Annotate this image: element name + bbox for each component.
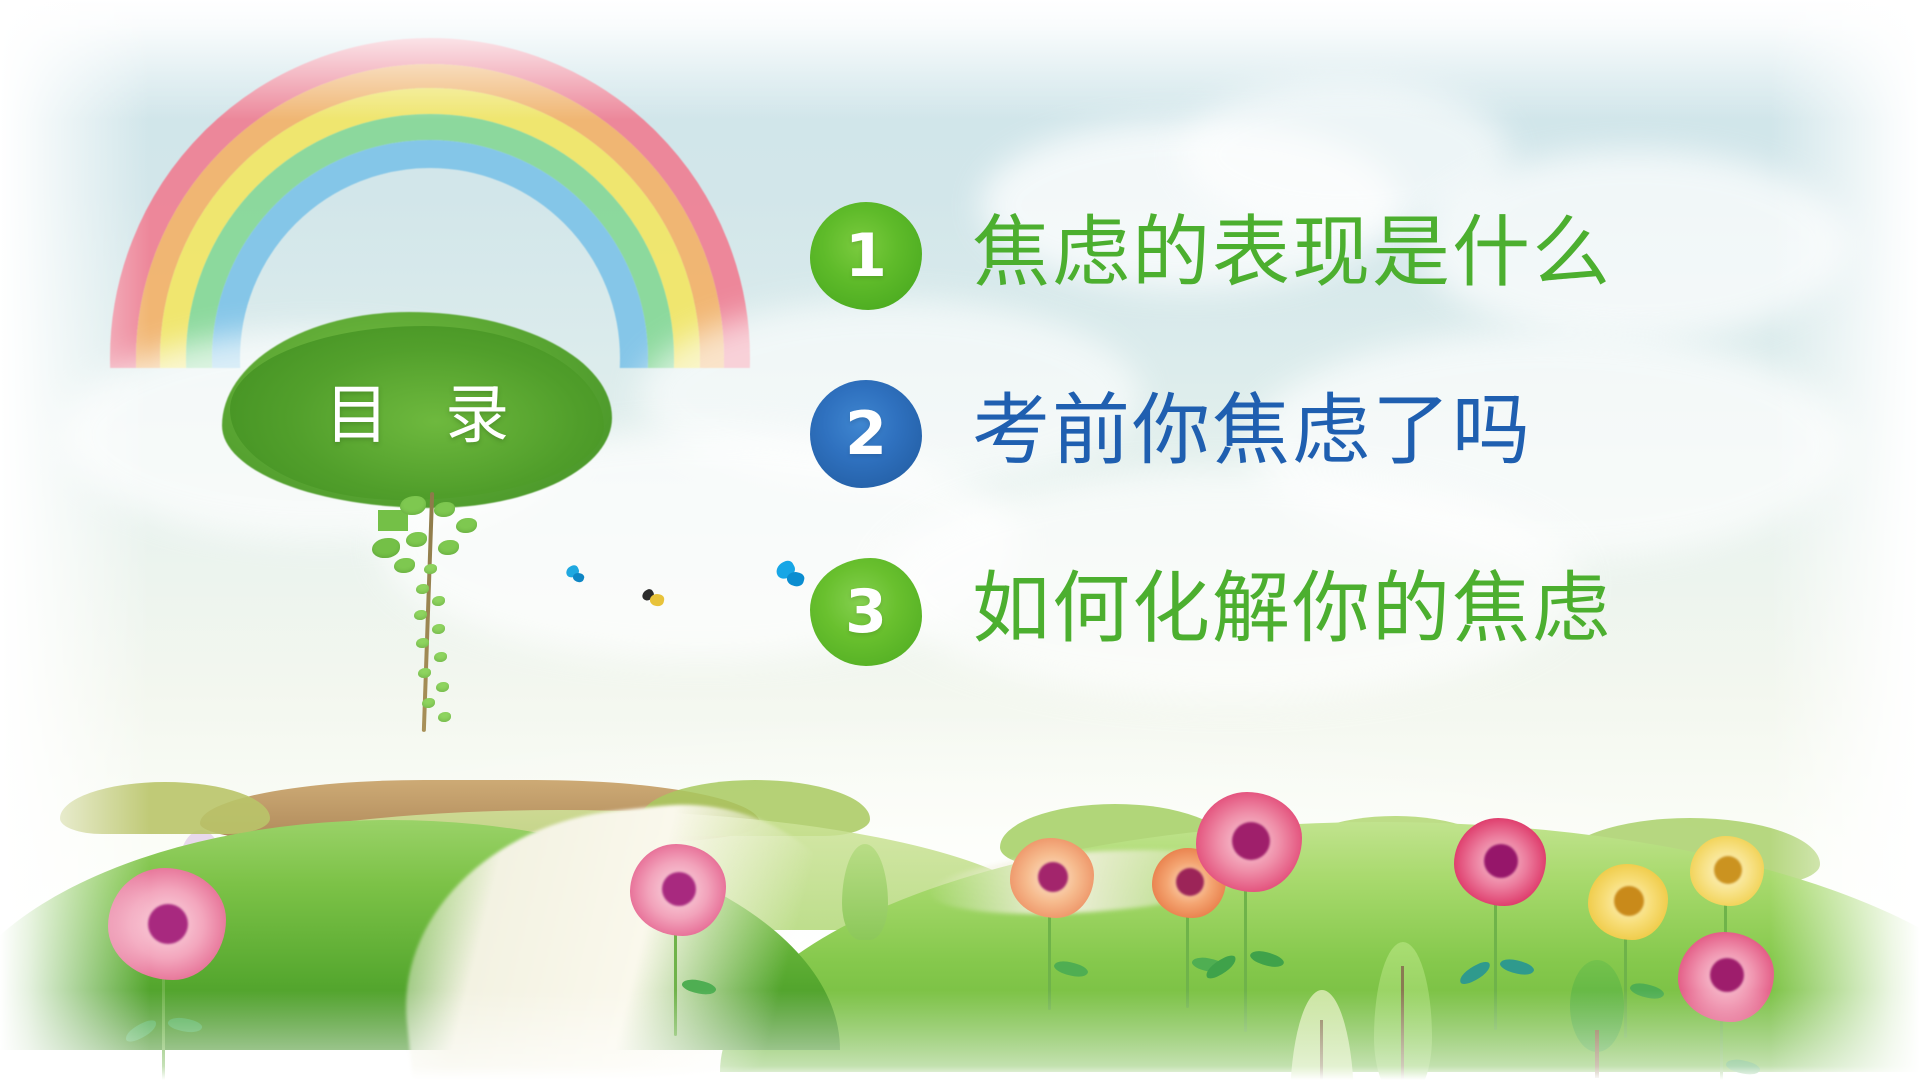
toc-item-3[interactable]: 3 如何化解你的焦虑	[810, 552, 1810, 684]
toc-badge-2: 2	[810, 380, 922, 488]
toc-item-2[interactable]: 2 考前你焦虑了吗	[810, 374, 1810, 506]
hanging-vine	[372, 492, 512, 742]
toc-number-1: 1	[810, 202, 922, 310]
toc-number-2: 2	[810, 380, 922, 488]
toc-number-3: 3	[810, 558, 922, 666]
bush-1	[60, 782, 270, 834]
toc-label-2: 考前你焦虑了吗	[972, 382, 1532, 482]
toc-badge-1: 1	[810, 202, 922, 310]
toc-list: 1 焦虑的表现是什么 2 考前你焦虑了吗 3 如何化解你的焦虑	[810, 196, 1810, 730]
toc-label-1: 焦虑的表现是什么	[972, 204, 1612, 304]
toc-badge-3: 3	[810, 558, 922, 666]
toc-title-badge: 目 录	[222, 312, 612, 508]
toc-label-3: 如何化解你的焦虑	[972, 560, 1612, 660]
toc-title-text: 目 录	[222, 312, 612, 508]
slide-canvas: 目 录	[0, 0, 1920, 1080]
toc-item-1[interactable]: 1 焦虑的表现是什么	[810, 196, 1810, 328]
